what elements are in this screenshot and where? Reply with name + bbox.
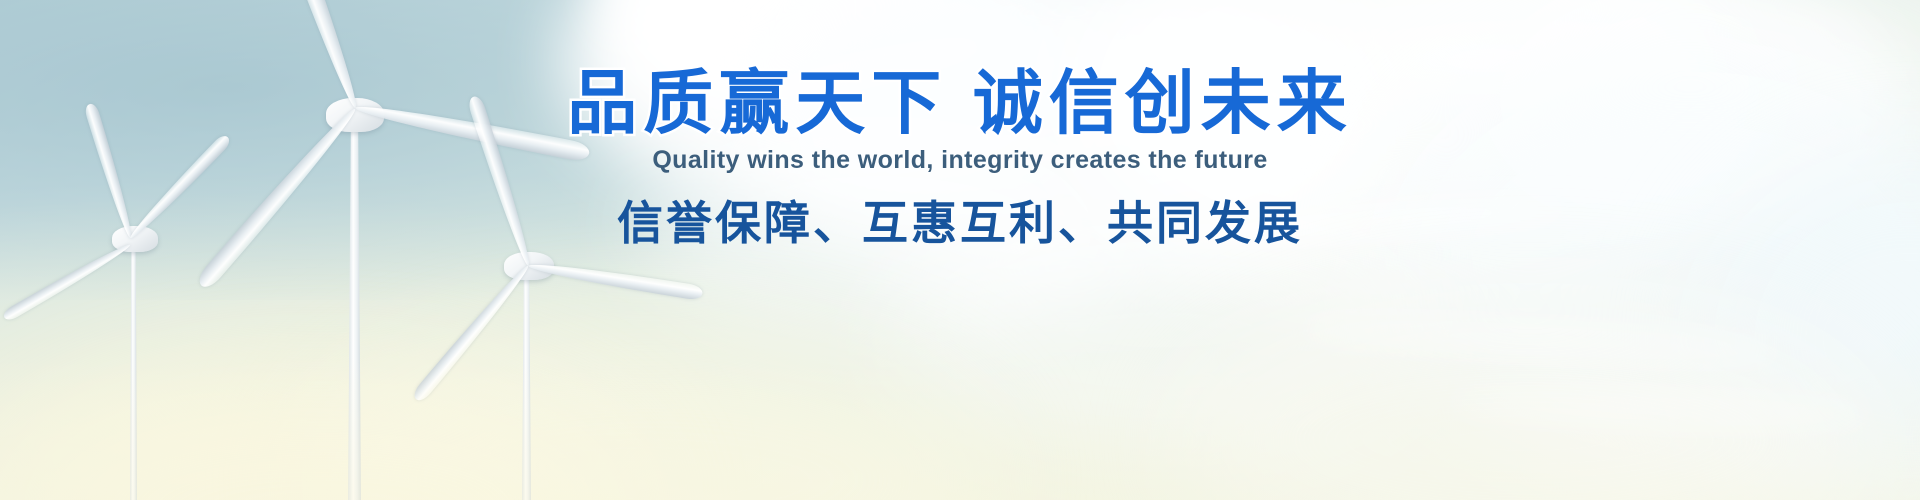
turbine-right xyxy=(380,0,840,500)
hero-banner: 品质赢天下 诚信创未来 Quality wins the world, inte… xyxy=(0,0,1920,500)
turbine-blade xyxy=(527,259,703,301)
turbine-blade xyxy=(83,102,136,240)
turbine-blade xyxy=(1,240,133,323)
turbine-mast xyxy=(522,268,531,500)
turbine-blade xyxy=(195,103,362,291)
turbine-blade xyxy=(265,0,364,111)
turbine-blade xyxy=(411,262,534,404)
turbine-mast xyxy=(130,240,137,500)
turbine-mast xyxy=(348,118,361,500)
turbine-blade xyxy=(466,94,535,268)
